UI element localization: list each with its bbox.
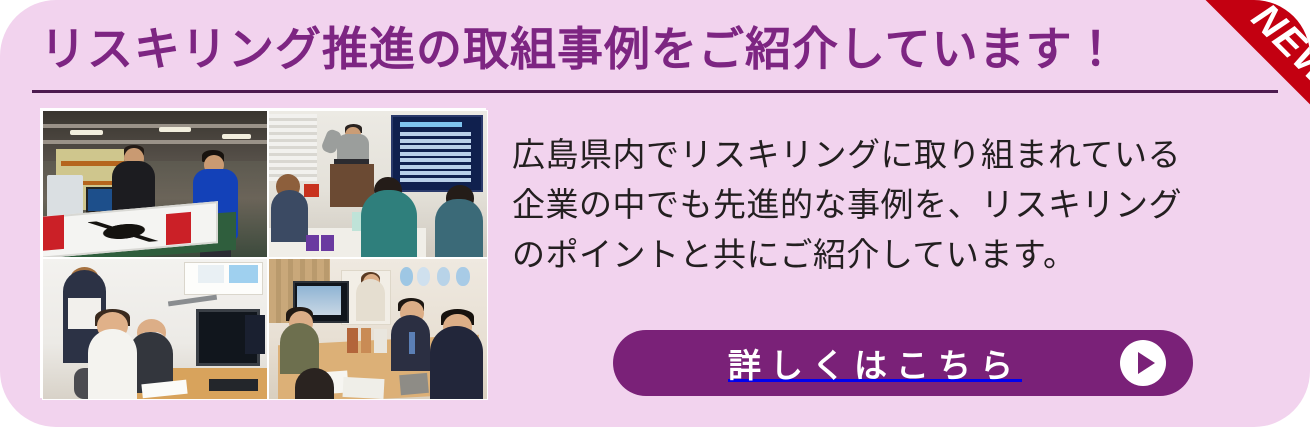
new-ribbon-band: NEW! bbox=[1171, 0, 1310, 177]
title-divider bbox=[32, 90, 1278, 93]
banner-title-row: リスキリング推進の取組事例をご紹介しています！ bbox=[40, 18, 1100, 80]
page-title: リスキリング推進の取組事例をご紹介しています！ bbox=[40, 24, 1120, 75]
banner-description: 広島県内でリスキリングに取り組まれている 企業の中でも先進的な事例を、リスキリン… bbox=[512, 130, 1172, 280]
play-circle-icon bbox=[1119, 339, 1167, 387]
details-button[interactable]: 詳しくはこちら bbox=[613, 330, 1193, 396]
details-button-label: 詳しくはこちら bbox=[613, 339, 1119, 387]
photo-seminar-room bbox=[268, 110, 488, 258]
photo-factory-signage bbox=[42, 110, 268, 258]
promo-banner: NEW! リスキリング推進の取組事例をご紹介しています！ bbox=[0, 0, 1310, 427]
photo-collage bbox=[40, 108, 486, 398]
description-line-2: 企業の中でも先進的な事例を、リスキリング bbox=[512, 180, 1172, 230]
photo-showroom-meeting bbox=[268, 258, 488, 400]
description-line-1: 広島県内でリスキリングに取り組まれている bbox=[512, 130, 1172, 180]
description-line-3: のポイントと共にご紹介しています。 bbox=[512, 230, 1172, 280]
photo-office-desk bbox=[42, 258, 268, 400]
